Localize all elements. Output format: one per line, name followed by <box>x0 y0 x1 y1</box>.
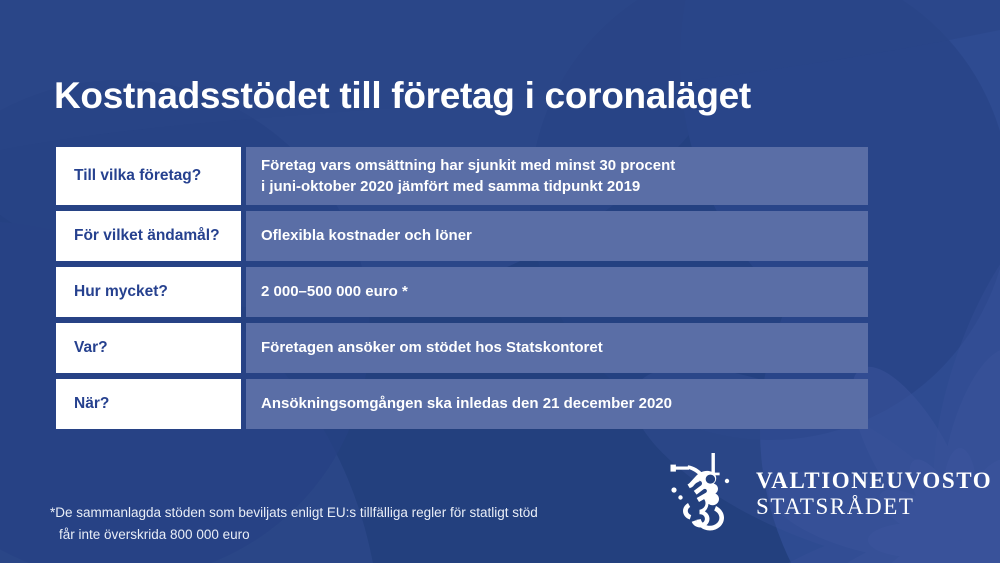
page-title: Kostnadsstödet till företag i coronaläge… <box>54 75 751 117</box>
table-row: Hur mycket? 2 000–500 000 euro * <box>56 267 868 317</box>
footnote-line-2: får inte överskrida 800 000 euro <box>50 524 538 546</box>
finnish-lion-coat-of-arms-icon <box>666 450 740 538</box>
row-label: Till vilka företag? <box>56 147 241 205</box>
row-value: Oflexibla kostnader och löner <box>246 211 868 261</box>
row-label: När? <box>56 379 241 429</box>
facts-table: Till vilka företag? Företag vars omsättn… <box>56 147 868 429</box>
infographic-canvas: Kostnadsstödet till företag i coronaläge… <box>0 0 1000 563</box>
table-row: För vilket ändamål? Oflexibla kostnader … <box>56 211 868 261</box>
row-label: För vilket ändamål? <box>56 211 241 261</box>
row-value: Företag vars omsättning har sjunkit med … <box>246 147 868 205</box>
row-value: Ansökningsomgången ska inledas den 21 de… <box>246 379 868 429</box>
row-value-line1: Ansökningsomgången ska inledas den 21 de… <box>261 393 672 414</box>
logo-wordmark: VALTIONEUVOSTO STATSRÅDET <box>756 468 992 520</box>
footnote-line-1: *De sammanlagda stöden som beviljats enl… <box>50 505 538 520</box>
logo-text-sv: STATSRÅDET <box>756 494 992 520</box>
logo-text-fi: VALTIONEUVOSTO <box>756 468 992 494</box>
valtioneuvosto-logo: VALTIONEUVOSTO STATSRÅDET <box>666 450 992 538</box>
row-value-line1: 2 000–500 000 euro * <box>261 281 408 302</box>
row-label: Hur mycket? <box>56 267 241 317</box>
row-value-line1: Oflexibla kostnader och löner <box>261 225 472 246</box>
footnote: *De sammanlagda stöden som beviljats enl… <box>50 480 538 563</box>
row-value-line1: Företagen ansöker om stödet hos Statskon… <box>261 337 603 358</box>
table-row: Till vilka företag? Företag vars omsättn… <box>56 147 868 205</box>
table-row: När? Ansökningsomgången ska inledas den … <box>56 379 868 429</box>
row-value-line2: i juni-oktober 2020 jämfört med samma ti… <box>261 176 675 197</box>
row-label: Var? <box>56 323 241 373</box>
row-value-line1: Företag vars omsättning har sjunkit med … <box>261 155 675 176</box>
row-value: Företagen ansöker om stödet hos Statskon… <box>246 323 868 373</box>
table-row: Var? Företagen ansöker om stödet hos Sta… <box>56 323 868 373</box>
row-value: 2 000–500 000 euro * <box>246 267 868 317</box>
